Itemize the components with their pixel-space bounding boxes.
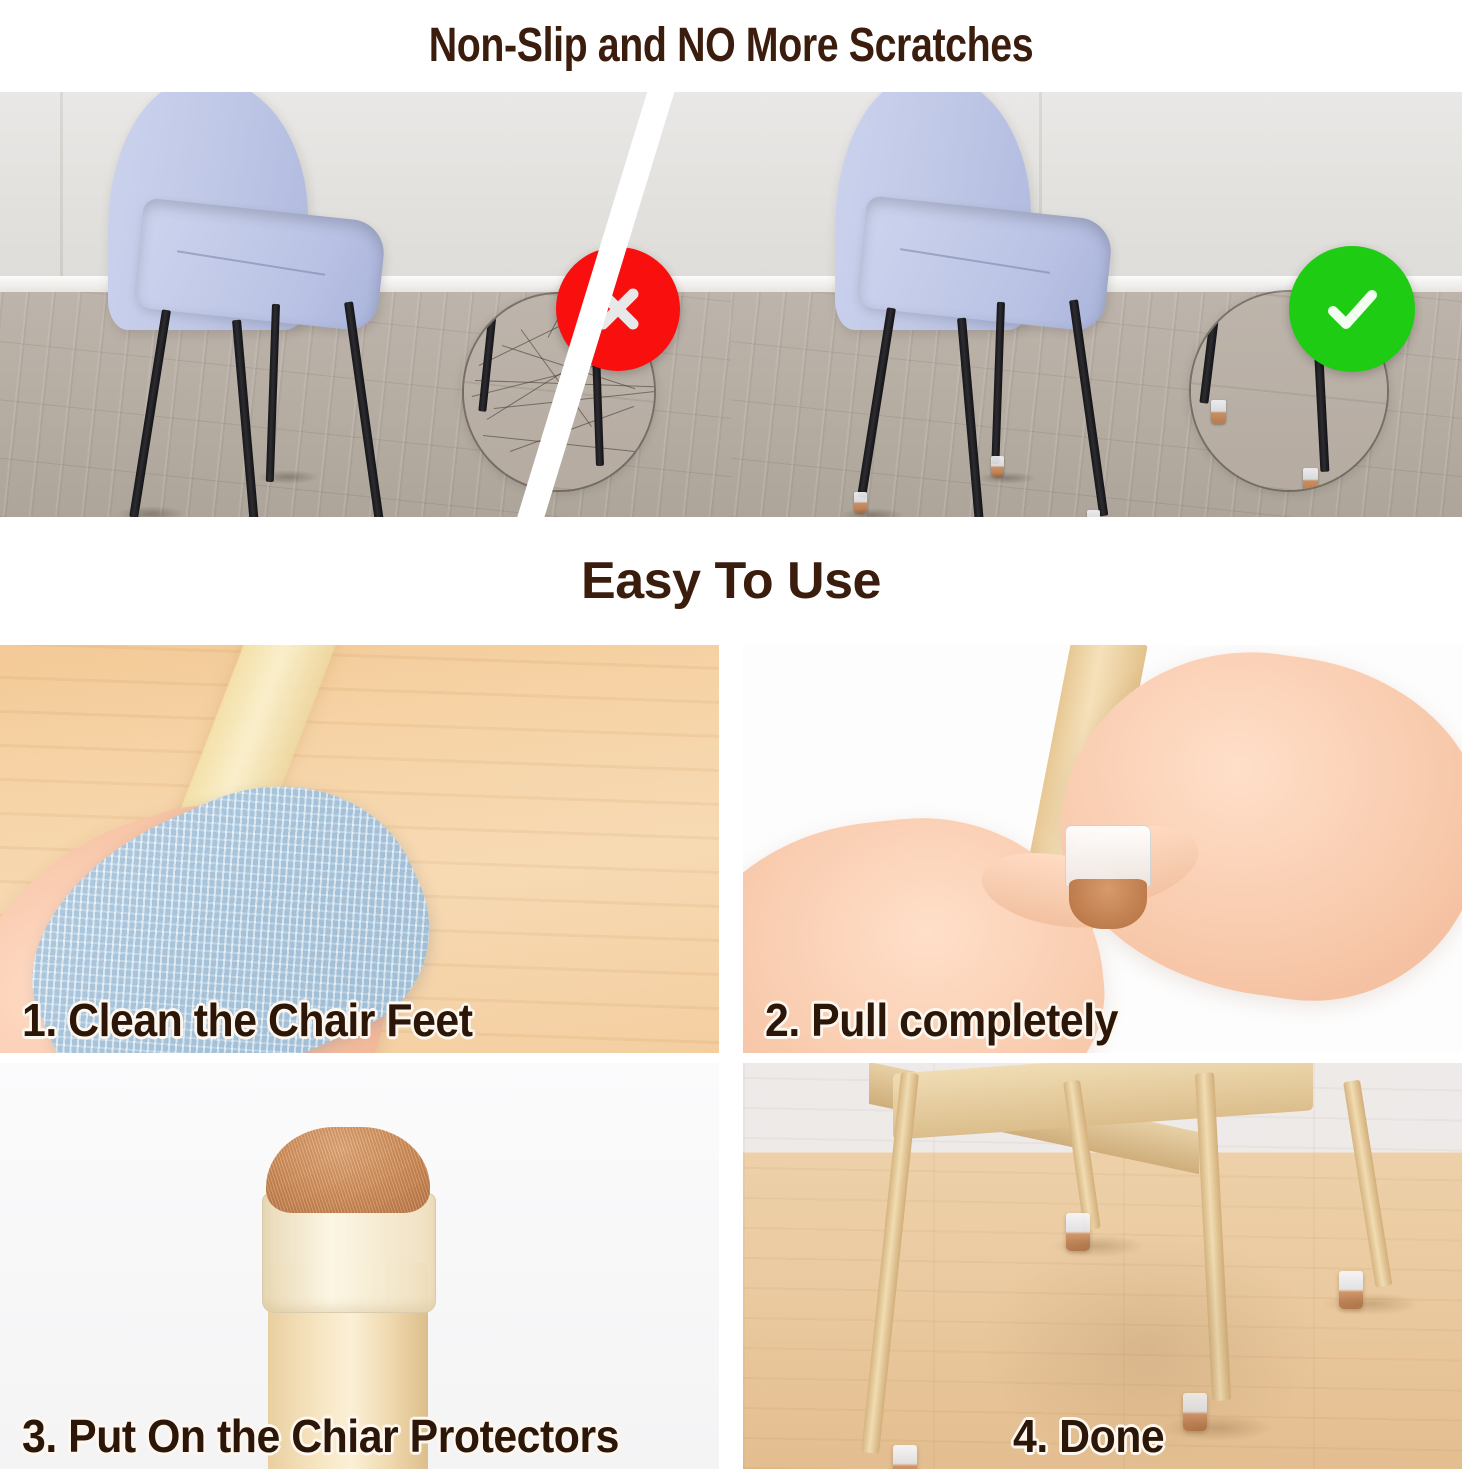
magnified-protector [1211, 400, 1226, 424]
chair-leg-protector [893, 1445, 917, 1469]
check-icon [1317, 274, 1387, 344]
status-badge-good [1289, 246, 1415, 372]
step-caption: 1. Clean the Chair Feet [22, 993, 473, 1047]
leg-shadow [116, 506, 186, 517]
section-title: Easy To Use [0, 555, 1462, 607]
wall-corner [60, 92, 63, 292]
step-caption: 3. Put On the Chiar Protectors [22, 1409, 619, 1463]
step-pull-completely: 2. Pull completely [743, 645, 1462, 1053]
step-done: 4. Done [743, 1063, 1462, 1469]
steps-row-top: 1. Clean the Chair Feet 2. Pull complete… [0, 645, 1462, 1053]
felt-pad [1069, 879, 1147, 929]
hero-comparison [0, 92, 1462, 517]
chair-leg [1343, 1080, 1392, 1288]
leg-shadow [977, 472, 1037, 484]
step-caption: 4. Done [1013, 1409, 1164, 1463]
page-title: Non-Slip and NO More Scratches [132, 22, 1331, 70]
felt-pad [266, 1127, 430, 1213]
leg-shadow [1323, 1293, 1419, 1315]
magnified-protector [1303, 468, 1318, 492]
chair-leg [861, 1072, 919, 1454]
steps-grid: 1. Clean the Chair Feet 2. Pull complete… [0, 645, 1462, 1469]
step-clean-chair-feet: 1. Clean the Chair Feet [0, 645, 719, 1053]
leg-shadow [256, 470, 320, 484]
scene-without-protectors [0, 92, 731, 517]
chair-leg-protector [1065, 825, 1151, 929]
title-bar: Non-Slip and NO More Scratches [0, 0, 1462, 92]
leg-shadow [839, 508, 905, 517]
step-put-on-protectors: 3. Put On the Chiar Protectors [0, 1063, 719, 1469]
step-caption: 2. Pull completely [765, 993, 1118, 1047]
subheading-bar: Easy To Use [0, 517, 1462, 645]
silicone-cap [1065, 825, 1151, 887]
chair-leg-protector [1087, 510, 1100, 517]
scene-with-protectors [731, 92, 1462, 517]
steps-row-bottom: 3. Put On the Chiar Protectors 4. Done [0, 1063, 1462, 1469]
